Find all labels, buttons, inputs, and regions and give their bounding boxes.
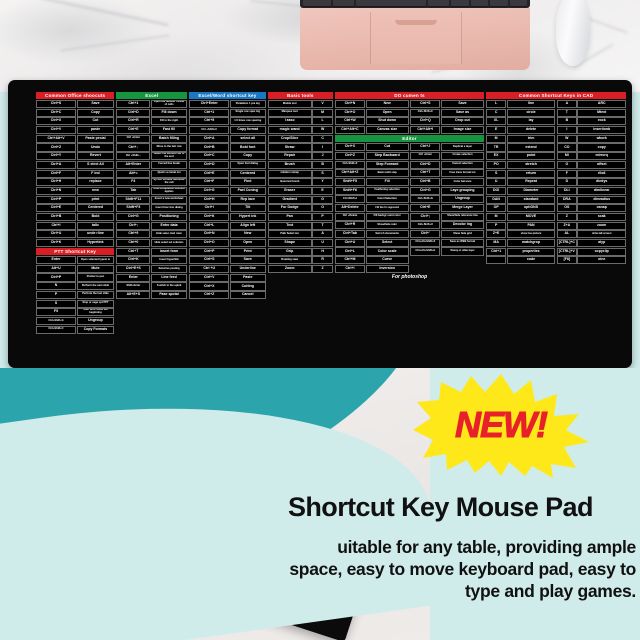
shortcut-key-cell: MI — [557, 152, 577, 160]
shortcut-desc-cell: Cancel — [230, 291, 266, 299]
table-row: EnterOpen selected typeto w — [36, 256, 114, 264]
shortcut-key-cell: Ctrl+P — [189, 248, 229, 256]
table-row: DLIdimlinear — [557, 187, 626, 195]
basic-tools-table: Mobile toolVMarquee toolMl assoLmagic wa… — [268, 100, 333, 273]
shortcut-desc-cell: rlloil — [577, 170, 626, 178]
table-row: Ctrl+IInversion — [335, 265, 409, 273]
shortcut-desc-cell: Fill backgr ound color — [366, 213, 409, 221]
table-row: Ctrl+XCutting — [189, 282, 265, 290]
shortcut-desc-cell: S elect All — [77, 161, 115, 169]
shortcut-key-cell: Ctrl+D — [116, 109, 150, 117]
table-row: XLlay — [486, 117, 555, 125]
shortcut-key-cell: XL — [486, 117, 506, 125]
shortcut-key-cell: Ctrl+O — [189, 239, 229, 247]
shortcut-desc-cell: Pael Coning — [230, 187, 266, 195]
table-row: GradientG — [268, 196, 333, 204]
shortcut-key-cell: Ctrl+G — [116, 213, 150, 221]
table-row: OSosnap — [557, 204, 626, 212]
documents-table-right: Ctrl+SSaveCtrl+Shift+CSave asCtrl+QDrop … — [410, 100, 484, 134]
shortcut-key-cell: Ctrl+0 — [116, 239, 150, 247]
panel-documents: DO cumen ts Ctrl+NNewCtrl+OOpenCtrl+WShu… — [335, 92, 484, 360]
shortcut-key-cell: E — [486, 126, 506, 134]
shortcut-key-cell: Shift+Enter — [116, 282, 150, 290]
table-row: Ctrl+Shift+ZStep Forward — [335, 161, 409, 169]
shortcut-desc-cell: stretch — [507, 161, 556, 169]
shortcut-desc-cell: Copy format — [230, 126, 266, 134]
table-row: Ctrl +DeleteFill backgr ound color — [335, 213, 409, 221]
shortcut-desc-cell: Select — [366, 239, 409, 247]
shortcut-key-cell: Ctrl+O — [335, 109, 365, 117]
shortcut-desc-cell: Y — [312, 178, 333, 186]
shortcut-key-cell: Ctrl+R — [116, 117, 150, 125]
shortcut-key-cell: Ctrl+Enter — [189, 100, 229, 108]
shortcut-key-cell: Ctrl+J — [410, 143, 440, 151]
shortcut-key-cell: Ctrl+Alt+C — [335, 126, 365, 134]
shortcut-key-cell: Ctrl+N — [36, 187, 76, 195]
table-row: Ctrl+Shift+UDecolor ing — [410, 221, 484, 229]
panel-basic-tools: Basic tools Mobile toolVMarquee toolMl a… — [268, 92, 333, 360]
shortcut-key-cell: Path Select ion — [268, 230, 312, 238]
shortcut-desc-cell: select all — [230, 135, 266, 143]
table-row: Ctrl+Alt+Shift+EStamp vi sible layer — [410, 247, 484, 255]
shortcut-key-cell: Ctrl+Alt+Z — [335, 169, 365, 177]
table-row: Ctrl+Vpaste — [36, 126, 114, 134]
shortcut-desc-cell: Bold font — [230, 143, 266, 151]
table-row: Ctrl+Italic — [36, 222, 114, 230]
shortcut-desc-cell: Start Wolf Show the beginning — [77, 308, 115, 316]
shortcut-desc-cell: P — [312, 213, 333, 221]
table-row: Ctrl+JDuplicat e layer — [410, 143, 484, 151]
table-row: Ctrl+Shift+GUngroup — [36, 317, 114, 325]
table-row: EraserE — [268, 187, 333, 195]
shortcut-desc-cell: MOVE — [507, 213, 556, 221]
shortcut-key-cell: P — [36, 291, 76, 299]
shortcut-desc-cell: S — [312, 170, 333, 178]
table-row: [F8]oine — [557, 256, 626, 264]
table-row: Ctrl+RFill to the right — [116, 117, 187, 125]
shortcut-key-cell: Ctrl+E+S — [116, 265, 150, 273]
shortcut-key-cell: Ctrl+S — [410, 100, 440, 108]
shortcut-desc-cell: Forced line break — [151, 161, 187, 169]
table-row: DRAdimradius — [557, 196, 626, 204]
shortcut-key-cell: I — [557, 126, 577, 134]
shortcut-key-cell: DOI — [486, 187, 506, 195]
shortcut-desc-cell: U — [312, 239, 333, 247]
shortcut-desc-cell: Open the number format of cells — [151, 100, 187, 108]
shortcut-key-cell: A — [557, 100, 577, 108]
table-row: Ctrl+E+SSelective pasting — [116, 265, 187, 273]
panel-cad: Common Shortcut Keys in CAD LlineCcircle… — [486, 92, 626, 360]
shortcut-desc-cell: scak — [577, 213, 626, 221]
table-row: Crop/SliceC — [268, 135, 333, 143]
shortcut-key-cell: Grip — [268, 248, 312, 256]
table-row: Ctrl+GLaye grouping — [410, 187, 484, 195]
shortcut-desc-cell: Move to the last row — [151, 143, 187, 151]
table-row: Ctrl +EnterBatch filling — [116, 135, 187, 143]
shortcut-desc-cell: Stop or sage opt PPT — [77, 300, 115, 308]
shortcut-key-cell: Ctrl+↓ — [116, 143, 150, 151]
marble-vein — [21, 0, 168, 27]
table-row: NPerform the next slide — [36, 282, 114, 290]
shortcut-key-cell: Ctrl+Tab — [335, 230, 365, 238]
shortcut-desc-cell: Canvas size — [366, 126, 409, 134]
shortcut-key-cell: Ctrl+U — [335, 239, 365, 247]
table-row: Path Select ionA — [268, 230, 333, 238]
table-row: Ctrl+DFill down — [116, 109, 187, 117]
table-row: EXpoint — [486, 152, 555, 160]
table-row: Ctrl+Pprint — [36, 196, 114, 204]
table-row: Ctrl+ECentered — [36, 204, 114, 212]
shortcut-desc-cell: Selective pasting — [151, 265, 187, 273]
shortcut-desc-cell: A — [312, 230, 333, 238]
table-row: Ctrl+1Open the number format of cells — [116, 100, 187, 108]
shortcut-desc-cell: Open — [230, 239, 266, 247]
shortcut-key-cell: Ctrl+; — [116, 222, 150, 230]
table-row: Ctrl+FFind — [189, 178, 265, 186]
table-row: Ctrl+SSave — [36, 100, 114, 108]
table-row: Ctrl+Aselect all — [189, 135, 265, 143]
table-row: Ctrl+KHypert ink — [189, 213, 265, 221]
shortcut-key-cell: Ctrl+X — [189, 282, 229, 290]
shortcut-key-cell: Text — [268, 222, 312, 230]
shortcut-desc-cell: copy — [577, 143, 626, 151]
shortcut-key-cell: Ctrl+X — [335, 143, 365, 151]
shortcut-desc-cell: Paste — [230, 274, 266, 282]
top-desk-photo — [0, 0, 640, 92]
shortcut-key-cell: DRA — [557, 196, 577, 204]
shortcut-desc-cell: Single row spac ing — [230, 109, 266, 117]
shortcut-desc-cell: Stamp vi sible layer — [441, 247, 484, 255]
panel-header-documents: DO cumen ts — [335, 92, 484, 99]
table-row: GripH — [268, 248, 333, 256]
shortcut-key-cell: Ctrl+Q — [410, 117, 440, 125]
shortcut-desc-cell: Color scale — [366, 247, 409, 255]
shortcut-desc-cell: Image size — [441, 126, 484, 134]
shortcut-key-cell: Ctrl+Y — [36, 152, 76, 160]
shortcut-desc-cell: New — [366, 100, 409, 108]
shortcut-key-cell: Ctrl+F — [36, 170, 76, 178]
shortcut-key-cell: Ctrl+G — [410, 187, 440, 195]
shortcut-desc-cell: V — [312, 100, 333, 108]
shortcut-desc-cell: Paste pecial — [77, 135, 115, 143]
table-row: Z+Eshow toe picture — [486, 230, 555, 238]
mousepad-main-view: Common Office shoocuts Ctrl+SSaveCtrl+CC… — [8, 80, 632, 368]
shortcut-desc-cell: shtw tall screen — [577, 230, 626, 238]
shortcut-desc-cell: alyp — [577, 239, 626, 247]
shortcut-key-cell: Ctrl+H — [36, 178, 76, 186]
cad-table-right: AARCTMtextBeockIinsertionbWwborkCOcopyMI… — [557, 100, 626, 264]
shortcut-key-cell: [F8] — [557, 256, 577, 264]
lower-scene: NEW! Shortcut Key Mouse Pad uitable for … — [0, 368, 640, 640]
shortcut-desc-cell: Z — [312, 265, 333, 273]
shortcut-key-cell: Ctrl+R — [335, 221, 365, 229]
shortcut-desc-cell: wbork — [577, 135, 626, 143]
shortcut-key-cell: Tab — [116, 187, 150, 195]
shortcut-key-cell: Alt+Delete — [335, 204, 365, 212]
shortcut-key-cell: Ctrl+' — [410, 230, 440, 238]
table-row: TabAuto-completion function applies — [116, 187, 187, 195]
table-row: Ctrl+USelect — [335, 239, 409, 247]
shortcut-desc-cell: C — [312, 135, 333, 143]
table-row: Ctrl+YRevert — [36, 152, 114, 160]
shortcut-key-cell: Ctrl+E — [410, 204, 440, 212]
shortcut-key-cell: Alt+E+S — [116, 291, 150, 299]
table-row: Ctrl+FF ind — [36, 170, 114, 178]
table-row: Ctrl+EFast fill — [116, 126, 187, 134]
shortcut-desc-cell: matchgrop — [507, 239, 556, 247]
shortcut-desc-cell: Show/hide reference line — [441, 213, 484, 221]
table-row: Marquee toolM — [268, 109, 333, 117]
panel-common-office: Common Office shoocuts Ctrl+SSaveCtrl+CC… — [36, 92, 114, 360]
shortcut-key-cell: MA — [486, 239, 506, 247]
table-row: Ctrl+Alt+CCanvas size — [335, 126, 409, 134]
table-row: Ctrl+GPositioning — [116, 213, 187, 221]
shortcut-key-cell: Alt+Enter — [116, 161, 150, 169]
table-row: Ctrl+EMerge Layer — [410, 204, 484, 212]
shortcut-key-cell: Enter — [36, 256, 76, 264]
shortcut-desc-cell: Pase spotal — [151, 291, 187, 299]
table-row: StrawI — [268, 143, 333, 151]
shortcut-desc-cell: Decolor ing — [441, 221, 484, 229]
shortcut-desc-cell: Pointer to pen — [77, 273, 115, 281]
shortcut-key-cell: Shift+F5 — [335, 178, 365, 186]
shortcut-desc-cell: replace — [77, 178, 115, 186]
table-row: Alt+E+SPase spotal — [116, 291, 187, 299]
shortcut-desc-cell: Step Forward — [366, 161, 409, 169]
photoshop-note: For photoshop — [335, 274, 484, 280]
shortcut-key-cell: EX — [486, 152, 506, 160]
shortcut-key-cell: Ctrl+D — [410, 161, 440, 169]
shortcut-key-cell: Ctrl+Shift+G — [36, 317, 76, 325]
shortcut-desc-cell: Back multi step — [366, 169, 409, 177]
table-row: Ctrl+RShow/hide ruler — [335, 221, 409, 229]
table-row: PPerform the last slide — [36, 291, 114, 299]
shortcut-desc-cell: paste — [77, 126, 115, 134]
shortcut-key-cell: Ctrl+E — [189, 170, 229, 178]
shortcut-desc-cell: Fill — [366, 178, 409, 186]
shortcut-desc-cell: insertionb — [577, 126, 626, 134]
table-row: Ctrl+QDrop out — [410, 117, 484, 125]
shortcut-key-cell: DAN — [486, 196, 506, 204]
table-row: Alt+DeleteFill the fo reground — [335, 204, 409, 212]
shortcut-desc-cell: Fast fill — [151, 126, 187, 134]
table-row: Mobile toolV — [268, 100, 333, 108]
shortcut-desc-cell: lay — [507, 117, 556, 125]
shortcut-key-cell: [CTRL]+V — [557, 248, 577, 256]
shortcut-key-cell: Mobile tool — [268, 100, 312, 108]
shortcut-desc-cell: Show hide grid — [441, 230, 484, 238]
shortcut-desc-cell: Mute — [77, 265, 115, 273]
table-row: RepairJ — [268, 152, 333, 160]
marble-vein — [60, 34, 169, 51]
shortcut-desc-cell: Laye grouping — [441, 187, 484, 195]
shortcut-desc-cell: offset — [577, 161, 626, 169]
table-row: MAmatchgrop — [486, 239, 555, 247]
shortcut-desc-cell: Centered — [77, 204, 115, 212]
table-row: code — [486, 256, 555, 264]
shortcut-desc-cell: new — [77, 187, 115, 195]
new-badge-label: NEW! — [413, 372, 589, 478]
table-row: Ddimtys — [557, 178, 626, 186]
shortcut-key-cell: Ctrl+V — [189, 274, 229, 282]
table-row: TMtext — [557, 109, 626, 117]
shortcut-desc-cell: Hypert ink — [230, 213, 266, 221]
table-row: Ctrl+1Single row spac ing — [189, 109, 265, 117]
shortcut-key-cell: P — [486, 222, 506, 230]
shortcut-desc-cell: Line feed — [151, 274, 187, 282]
shortcut-desc-cell: Ungroup — [441, 195, 484, 203]
shortcut-desc-cell: Invert Selection — [366, 195, 409, 203]
shortcut-desc-cell: ARC — [577, 100, 626, 108]
shortcut-key-cell: L — [486, 100, 506, 108]
shortcut-desc-cell: E — [312, 187, 333, 195]
shortcut-desc-cell: Cut — [77, 117, 115, 125]
shortcut-desc-cell: Free trans format ion — [441, 169, 484, 177]
shortcut-key-cell: Shape — [268, 239, 312, 247]
shortcut-desc-cell: Quick su mmat ion — [151, 170, 187, 178]
table-row: Ctrl+ZCancel — [189, 291, 265, 299]
table-row: Ctrl iShift+IInvert Selection — [335, 195, 409, 203]
shortcut-key-cell: Ctrl +U — [189, 265, 229, 273]
shortcut-desc-cell: H — [312, 248, 333, 256]
table-row: SStop or sage opt PPT — [36, 300, 114, 308]
table-row: Ctrl+GPael Coning — [189, 187, 265, 195]
table-row: Ctrl+EnterParalation 1 pra ing — [189, 100, 265, 108]
table-row: Lline — [486, 100, 555, 108]
shortcut-key-cell: Pan — [268, 213, 312, 221]
table-row: Ctrl+Uunde rline — [36, 230, 114, 238]
editor-table-left: Ctrl+XCutCtrl+ZStep BackwardCtrl+Shift+Z… — [335, 143, 409, 273]
table-row: Shift+EnterS witch to the upink — [116, 282, 187, 290]
shortcut-desc-cell: delete — [507, 126, 556, 134]
shortcut-desc-cell: Curve — [366, 256, 409, 264]
shortcut-key-cell: Brush — [268, 161, 312, 169]
shortcut-desc-cell: Fill the fo reground — [366, 204, 409, 212]
shortcut-key-cell: Ctrl+A — [189, 135, 229, 143]
shortcut-key-cell: Marquee tool — [268, 109, 312, 117]
shortcut-desc-cell: Perform the next slide — [77, 282, 115, 290]
shortcut-desc-cell: Select the second row to the end — [151, 152, 187, 160]
shortcut-desc-cell: Diameter — [507, 187, 556, 195]
shortcut-desc-cell: New — [230, 230, 266, 238]
shortcut-desc-cell: show toe picture — [507, 230, 556, 238]
table-row: PanP — [268, 213, 333, 221]
table-row: Ctrl+AS elect All — [36, 161, 114, 169]
table-row: Ctrl +Shift+↓Select the second row to th… — [116, 152, 187, 160]
mouse-image — [556, 0, 590, 66]
table-row: DOIDiameter — [486, 187, 555, 195]
new-badge: NEW! — [413, 372, 589, 478]
shortcut-key-cell: Ctrl+S — [36, 100, 76, 108]
table-row: POstretch — [486, 161, 555, 169]
shortcut-key-cell: Ctrl+Shift+C — [36, 326, 76, 334]
shortcut-key-cell: Ctrl+H — [189, 196, 229, 204]
shortcut-key-cell: Ctrl+Shift+C — [410, 109, 440, 117]
table-row: Ctrl +Shift+CCopy format — [189, 126, 265, 134]
table-row: TRextend — [486, 143, 555, 151]
shortcut-desc-cell: Feathering selection — [366, 187, 409, 195]
shortcut-key-cell: Ctrl+1 — [189, 109, 229, 117]
shortcut-desc-cell: 1.5 times row spacing — [230, 117, 266, 125]
shortcut-desc-cell: Copy — [230, 152, 266, 160]
shortcut-key-cell: Gradient — [268, 196, 312, 204]
shortcut-key-cell: Rotating view — [268, 256, 312, 264]
table-row: Ctrl+LColor scale — [335, 247, 409, 255]
table-row: Shift+F5Fill — [335, 178, 409, 186]
shortcut-key-cell: Straw — [268, 143, 312, 151]
table-row: Ctrl+ITilt — [189, 204, 265, 212]
shortcut-key-cell: Ctrl +Shift+C — [189, 126, 229, 134]
table-row: Ctrl+CCopy — [189, 152, 265, 160]
table-row: Iinsertionb — [557, 126, 626, 134]
shortcut-key-cell: Ctrl +Enter — [116, 135, 150, 143]
shortcut-desc-cell: dimlinear — [577, 187, 626, 195]
shortcut-key-cell: Ctrl+G — [189, 187, 229, 195]
shortcut-key-cell: Zoom — [268, 265, 312, 273]
table-row: Alt+UMute — [36, 265, 114, 273]
shortcut-key-cell: Ctrl+A — [36, 161, 76, 169]
shortcut-key-cell: Ctrl+B — [36, 213, 76, 221]
shortcut-key-cell: historical brush — [268, 178, 312, 186]
shortcut-desc-cell: Color bal ance — [441, 178, 484, 186]
shortcut-desc-cell: Repeat — [507, 178, 556, 186]
shortcut-desc-cell: eock — [577, 117, 626, 125]
shortcut-desc-cell: talic — [77, 222, 115, 230]
shortcut-desc-cell: S witch to the upink — [151, 282, 187, 290]
shortcut-desc-cell: Sy itch formula reference the cell — [151, 178, 187, 186]
shortcut-key-cell: Ctrl+Z — [189, 291, 229, 299]
shortcut-key-cell: Ctrl+B — [189, 143, 229, 151]
table-row: Ctrl+LAlign left — [189, 222, 265, 230]
shortcut-desc-cell: return — [507, 170, 556, 178]
table-row: Ctrl+Tinsert form — [116, 248, 187, 256]
shortcut-desc-cell: Shut down — [366, 117, 409, 125]
shortcut-key-cell: Ctrl+N — [189, 230, 229, 238]
table-row: Ctrl+CCopy — [36, 109, 114, 117]
shortcut-desc-cell: Hypertink — [77, 239, 115, 247]
table-row: historical brushY — [268, 178, 333, 186]
table-row: Ctrl+XCut — [335, 143, 409, 151]
shortcut-desc-cell: O — [312, 204, 333, 212]
shortcut-key-cell: Ctrl+1 — [486, 248, 506, 256]
shortcut-desc-cell: Positioning — [151, 213, 187, 221]
panel-excel: Excel Ctrl+1Open the number format of ce… — [116, 92, 187, 360]
table-row: Z+Azoom — [557, 222, 626, 230]
table-row: MMOVE — [486, 213, 555, 221]
shortcut-key-cell: Ctrl+Alt+Shift+S — [410, 239, 440, 247]
table-row: Ctrl+Shift+CCopy Formats — [36, 326, 114, 334]
table-row: Ctrl+1properties — [486, 248, 555, 256]
laptop-palmrest — [300, 8, 530, 70]
table-row: Ooffset — [557, 161, 626, 169]
shortcut-desc-cell: dimradius — [577, 196, 626, 204]
product-listing-image: Common Office shoocuts Ctrl+SSaveCtrl+CC… — [0, 0, 640, 640]
table-row: Ctrl+BBold — [36, 213, 114, 221]
shortcut-key-cell: Ctrl+X — [36, 117, 76, 125]
table-row: Alt+EnterForced line break — [116, 161, 187, 169]
product-subtitle: uitable for any table, providing ample s… — [288, 536, 636, 602]
shortcut-key-cell: Ctrl+Shift+G — [410, 195, 440, 203]
shortcut-desc-cell: point — [507, 152, 556, 160]
table-row: BrushB — [268, 161, 333, 169]
table-row: Ctrl+TFree trans format ion — [410, 169, 484, 177]
shortcut-key-cell: Ctrl+F — [189, 178, 229, 186]
copy-block: Shortcut Key Mouse Pad uitable for any t… — [288, 492, 636, 602]
shortcut-key-cell: PO — [486, 161, 506, 169]
table-row: COcopy — [557, 143, 626, 151]
shortcut-key-cell: Alt+= — [116, 170, 150, 178]
shortcut-key-cell: T — [557, 109, 577, 117]
